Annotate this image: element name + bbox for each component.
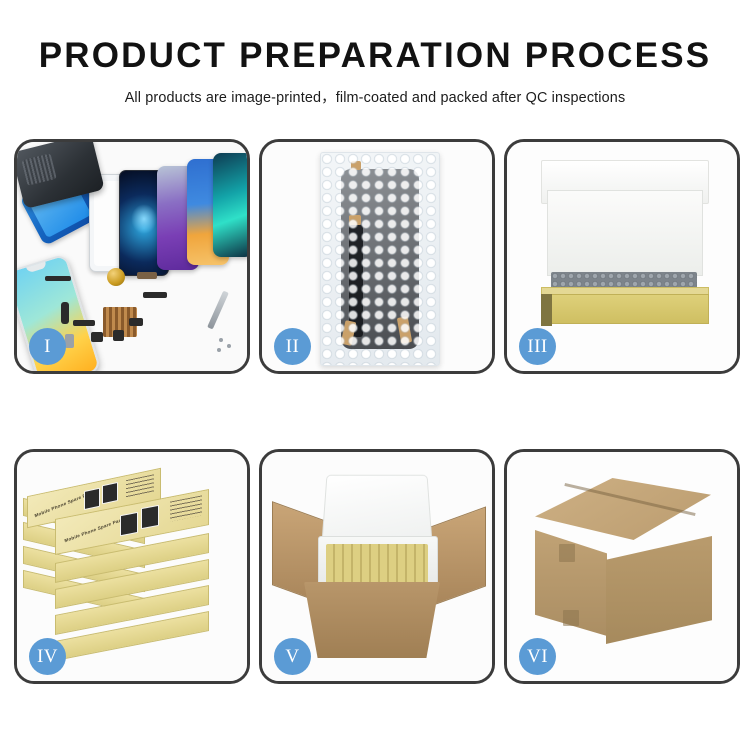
process-step-panel-3: III bbox=[504, 139, 740, 374]
spare-part-vibrator bbox=[129, 318, 143, 326]
spare-part-speaker bbox=[91, 332, 103, 342]
step-badge-1: I bbox=[29, 328, 66, 365]
step-badge-6: VI bbox=[519, 638, 556, 675]
protective-tab-top bbox=[351, 161, 361, 170]
page-title: PRODUCT PREPARATION PROCESS bbox=[0, 38, 750, 75]
carton-body bbox=[304, 582, 440, 658]
spare-part-button bbox=[113, 330, 124, 341]
spare-part-ribbon bbox=[73, 320, 95, 326]
spare-part-sim-tray bbox=[65, 334, 74, 348]
box-side-panel bbox=[541, 294, 552, 326]
spare-part-strip bbox=[45, 276, 71, 281]
screw-3 bbox=[217, 348, 221, 352]
screw-1 bbox=[219, 338, 223, 342]
page-header: PRODUCT PREPARATION PROCESS All products… bbox=[0, 0, 750, 107]
process-step-grid: I II bbox=[14, 139, 736, 684]
spare-part-antenna bbox=[143, 292, 167, 298]
process-step-panel-2: II bbox=[259, 139, 495, 374]
process-step-panel-1: I bbox=[14, 139, 250, 374]
page-subtitle: All products are image-printed，film-coat… bbox=[0, 86, 750, 107]
step-badge-4: IV bbox=[29, 638, 66, 675]
box-product-photo-2 bbox=[102, 482, 118, 504]
wrapped-flex-cable bbox=[349, 225, 363, 337]
camera-module-icon bbox=[107, 268, 125, 286]
screw-2 bbox=[227, 344, 231, 348]
box-product-photo-2 bbox=[141, 505, 159, 529]
box-stack: Mobile Phone Spare Parts Mobile Phone Sp… bbox=[21, 474, 245, 664]
bubble-wrap-bag bbox=[320, 152, 440, 366]
protective-tab-middle bbox=[349, 215, 361, 225]
spare-part-flex-cable bbox=[61, 302, 69, 324]
box-product-photo-1 bbox=[120, 512, 138, 536]
step-badge-3: III bbox=[519, 328, 556, 365]
carton-tape-lower bbox=[563, 610, 579, 626]
packed-yellow-boxes bbox=[326, 544, 428, 586]
process-step-panel-4: Mobile Phone Spare Parts Mobile Phone Sp… bbox=[14, 449, 250, 684]
phone-screen-teal bbox=[213, 153, 250, 257]
foam-sheet-liner bbox=[547, 190, 703, 276]
process-step-panel-5: V bbox=[259, 449, 495, 684]
spare-part-connector bbox=[137, 272, 157, 279]
box-product-photo-1 bbox=[84, 488, 100, 510]
box-front-panel bbox=[541, 294, 709, 324]
step-badge-2: II bbox=[274, 328, 311, 365]
step-badge-5: V bbox=[274, 638, 311, 675]
carton-tape-upper bbox=[559, 544, 575, 562]
process-step-panel-6: VI bbox=[504, 449, 740, 684]
product-preparation-page: PRODUCT PREPARATION PROCESS All products… bbox=[0, 0, 750, 750]
